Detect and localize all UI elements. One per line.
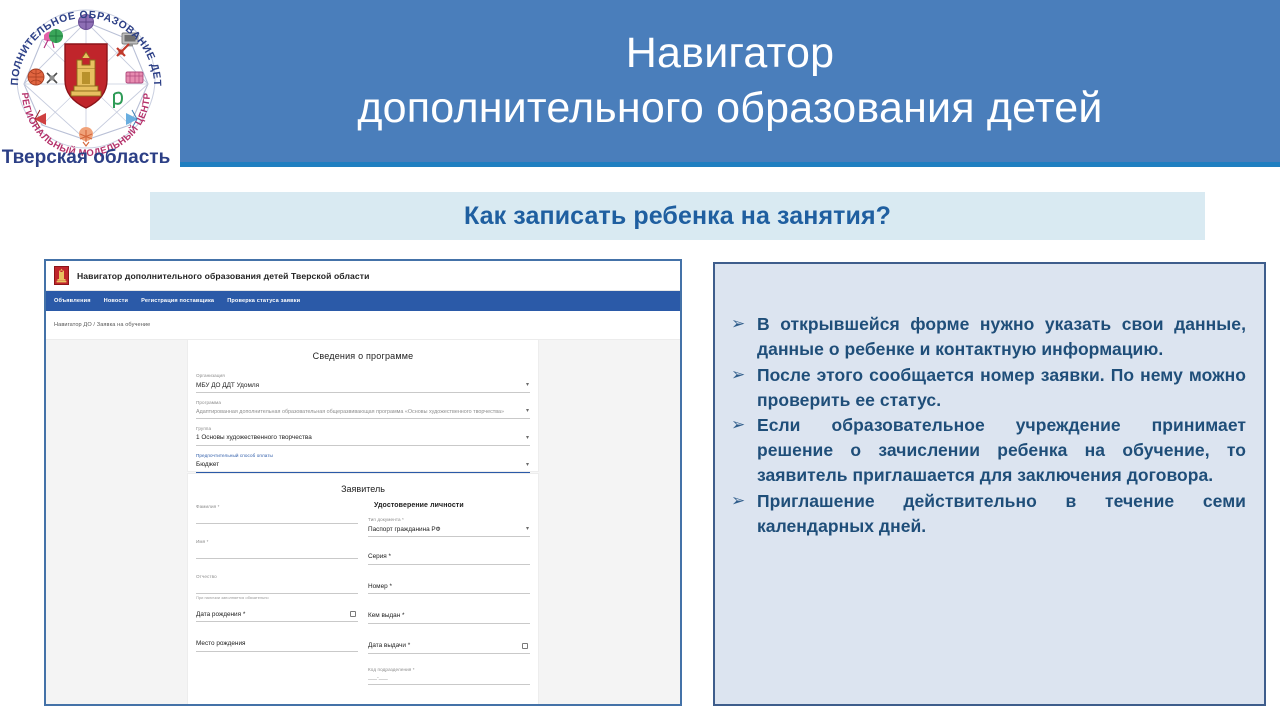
chevron-down-icon[interactable]: ▾ (526, 408, 529, 414)
navigator-screenshot: Навигатор дополнительного образования де… (44, 259, 682, 706)
screenshot-body: Сведения о программе Организация МБУ ДО … (46, 340, 680, 706)
field-program-underline (196, 418, 530, 419)
field-document-type[interactable]: Тип документа * Паспорт гражданина РФ ▾ (368, 513, 530, 537)
field-patronymic-hint: При наличии заполняется обязательно (196, 594, 358, 600)
field-program[interactable]: Программа Адаптированная дополнительная … (196, 396, 530, 419)
field-birthdate[interactable]: Дата рождения * (196, 604, 358, 623)
applicant-identity-column: Удостоверение личности Тип документа * П… (368, 500, 530, 688)
field-organization-value: МБУ ДО ДДТ Удомля (196, 379, 530, 393)
subtitle-banner: Как записать ребенка на занятия? (150, 192, 1205, 240)
field-payment-method-value: Бюджет (196, 458, 530, 472)
arrow-bullet-icon: ➢ (729, 312, 757, 336)
nav-item-announcements[interactable]: Объявления (54, 298, 91, 304)
field-passport-series[interactable]: Серия * (368, 546, 530, 565)
list-item: ➢ Приглашение действительно в течение се… (729, 489, 1246, 539)
screenshot-navbar: Объявления Новости Регистрация поставщик… (46, 291, 680, 311)
field-issue-date-underline (368, 653, 530, 654)
subtitle-text: Как записать ребенка на занятия? (464, 202, 891, 231)
screenshot-site-title: Навигатор дополнительного образования де… (77, 271, 370, 281)
arrow-bullet-icon: ➢ (729, 363, 757, 387)
field-passport-number-label: Номер * (368, 580, 530, 594)
calendar-icon[interactable] (350, 611, 356, 617)
applicant-personal-column: Фамилия * Имя * Отчество При наличии (196, 500, 358, 688)
header-banner: Навигатор дополнительного образования де… (180, 0, 1280, 162)
instruction-text-4: Приглашение действительно в течение семи… (757, 489, 1246, 539)
chevron-down-icon[interactable]: ▾ (526, 526, 529, 532)
chevron-down-icon[interactable]: ▾ (526, 462, 529, 468)
field-group-value: 1 Основы художественного творчества (196, 431, 530, 445)
instruction-text-3: Если образовательное учреждение принимае… (757, 413, 1246, 488)
program-details-card: Сведения о программе Организация МБУ ДО … (187, 340, 539, 472)
program-section-title: Сведения о программе (196, 340, 530, 369)
identity-block-title: Удостоверение личности (368, 500, 530, 513)
regional-model-center-logo-icon: ДОПОЛНИТЕЛЬНОЕ ОБРАЗОВАНИЕ ДЕТЕЙ РЕГИОНА… (0, 0, 172, 170)
field-group-underline (196, 445, 530, 446)
field-issued-by-underline (368, 623, 530, 624)
nav-item-news[interactable]: Новости (104, 298, 129, 304)
field-organization-underline (196, 392, 530, 393)
field-birthplace-label: Место рождения (196, 637, 358, 651)
field-group[interactable]: Группа 1 Основы художественного творчест… (196, 422, 530, 446)
screenshot-site-header: Навигатор дополнительного образования де… (46, 261, 680, 291)
instructions-panel: ➢ В открывшейся форме нужно указать свои… (713, 262, 1266, 706)
field-lastname-underline (196, 523, 358, 524)
page-title: Навигатор дополнительного образования де… (180, 0, 1280, 162)
field-department-code-value: ___-___ (368, 672, 530, 684)
chevron-down-icon[interactable]: ▾ (526, 382, 529, 388)
field-issued-by[interactable]: Кем выдан * (368, 605, 530, 624)
instruction-text-2: После этого сообщается номер заявки. По … (757, 363, 1246, 413)
chevron-down-icon[interactable]: ▾ (526, 435, 529, 441)
field-birthdate-label: Дата рождения * (196, 608, 358, 622)
field-organization[interactable]: Организация МБУ ДО ДДТ Удомля ▾ (196, 369, 530, 393)
screenshot-breadcrumb-bar: Навигатор ДО / Заявка на обучение (46, 311, 680, 340)
field-issue-date-label: Дата выдачи * (368, 639, 530, 653)
field-birthdate-underline (196, 621, 358, 622)
field-payment-method[interactable]: Предпочтительный способ оплаты Бюджет ▾ (196, 449, 530, 473)
field-birthplace-underline (196, 651, 358, 652)
page-title-line1: Навигатор (626, 26, 834, 81)
field-passport-number[interactable]: Номер * (368, 576, 530, 595)
page-gutter-left (46, 340, 187, 706)
tver-coat-of-arms-icon (54, 266, 69, 285)
applicant-columns: Фамилия * Имя * Отчество При наличии (188, 500, 538, 688)
field-department-code-underline (368, 684, 530, 685)
nav-item-provider-registration[interactable]: Регистрация поставщика (141, 298, 214, 304)
list-item: ➢ Если образовательное учреждение приним… (729, 413, 1246, 488)
field-issued-by-label: Кем выдан * (368, 609, 530, 623)
arrow-bullet-icon: ➢ (729, 413, 757, 437)
field-firstname-value (196, 545, 358, 559)
field-passport-series-underline (368, 564, 530, 565)
field-document-type-value: Паспорт гражданина РФ (368, 523, 530, 537)
list-item: ➢ В открывшейся форме нужно указать свои… (729, 312, 1246, 362)
header-accent-rule (180, 162, 1280, 167)
applicant-card: Заявитель Фамилия * Имя * (187, 473, 539, 706)
field-issue-date[interactable]: Дата выдачи * (368, 635, 530, 654)
applicant-section-title: Заявитель (188, 474, 538, 500)
field-passport-number-underline (368, 593, 530, 594)
page-gutter-right (539, 340, 682, 706)
field-firstname-underline (196, 558, 358, 559)
field-passport-series-label: Серия * (368, 550, 530, 564)
arrow-bullet-icon: ➢ (729, 489, 757, 513)
field-patronymic[interactable]: Отчество При наличии заполняется обязате… (196, 570, 358, 600)
list-item: ➢ После этого сообщается номер заявки. П… (729, 363, 1246, 413)
field-lastname-value (196, 510, 358, 524)
field-department-code[interactable]: Код подразделения * ___-___ (368, 663, 530, 686)
field-document-type-underline (368, 536, 530, 537)
page-title-line2: дополнительного образования детей (357, 81, 1102, 136)
field-patronymic-value (196, 580, 358, 594)
nav-item-check-application-status[interactable]: Проверка статуса заявки (227, 298, 300, 304)
calendar-icon[interactable] (522, 643, 528, 649)
svg-text:Тверская область: Тверская область (2, 147, 171, 168)
field-program-value: Адаптированная дополнительная образовате… (196, 406, 530, 418)
breadcrumb[interactable]: Навигатор ДО / Заявка на обучение (54, 322, 150, 328)
field-firstname[interactable]: Имя * (196, 535, 358, 559)
instruction-text-1: В открывшейся форме нужно указать свои д… (757, 312, 1246, 362)
field-birthplace[interactable]: Место рождения (196, 633, 358, 652)
logo: ДОПОЛНИТЕЛЬНОЕ ОБРАЗОВАНИЕ ДЕТЕЙ РЕГИОНА… (0, 0, 172, 170)
field-lastname[interactable]: Фамилия * (196, 500, 358, 524)
